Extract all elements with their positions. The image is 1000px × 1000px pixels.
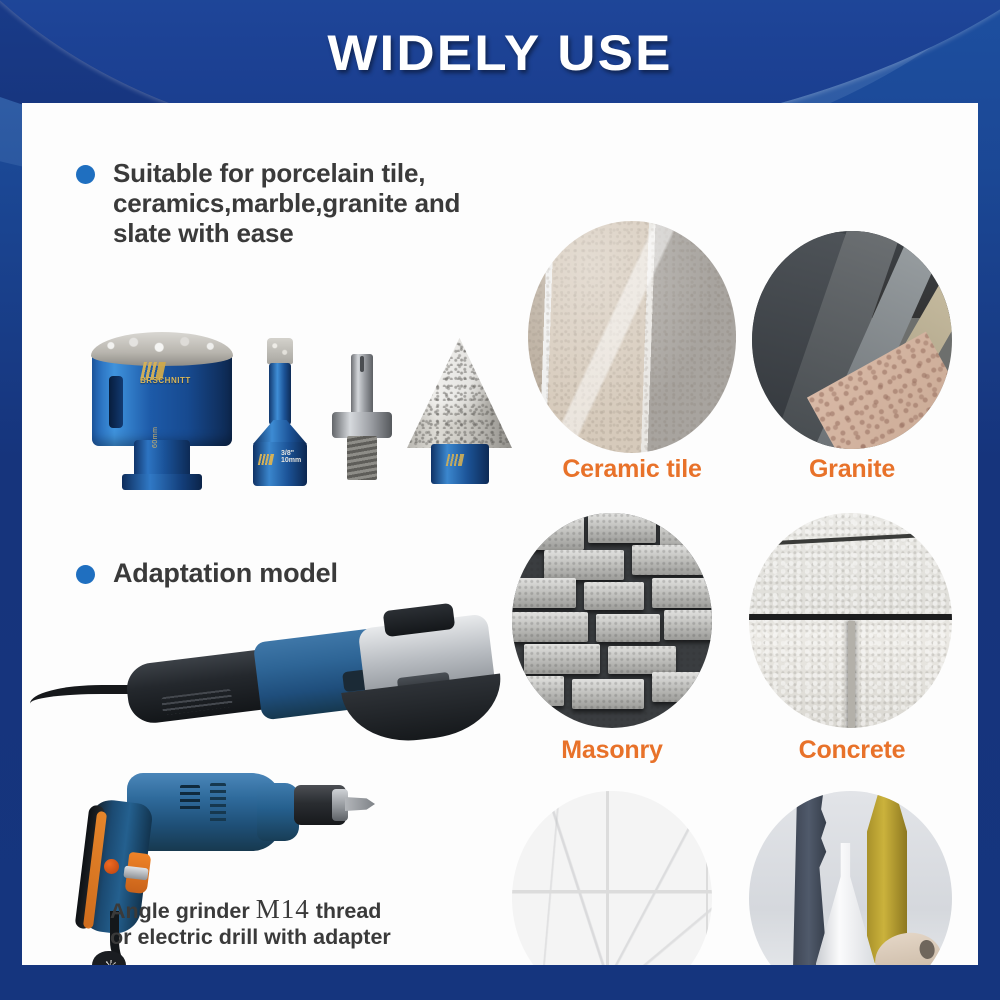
small-bit-size-label: 3/8" 10mm	[281, 450, 301, 465]
porcelain-grout-lines	[512, 791, 712, 965]
blue-dot-icon	[76, 565, 95, 584]
tile-highlight	[528, 221, 736, 453]
hole-saw-slot	[109, 376, 123, 428]
drill-vent-front	[180, 785, 200, 811]
material-photo-masonry	[512, 513, 712, 728]
hex-shank-adapter	[332, 354, 394, 482]
concrete-horizontal-joint	[749, 614, 952, 620]
cone-grit-texture	[407, 338, 512, 448]
small-bit-neck	[269, 363, 291, 425]
masonry-speckle-texture	[512, 513, 712, 728]
drill-vent-rear	[210, 783, 226, 825]
caption-line-2: or electric drill with adapter	[110, 925, 391, 949]
feature-text: Adaptation model	[113, 558, 338, 589]
small-bit-cone	[253, 420, 307, 444]
tool-compatibility-caption: Angle grinder M14 thread or electric dri…	[110, 893, 440, 951]
adapter-thread	[347, 436, 377, 480]
hole-saw-flange	[122, 474, 202, 490]
feature-bullet-adaptation-model: Adaptation model	[76, 558, 338, 589]
material-caption-granite: Granite	[722, 455, 978, 484]
small-diamond-drill-bit: 3/8" 10mm	[247, 338, 313, 488]
hole-saw-diamond-crown	[91, 332, 233, 366]
caption-part-1: Angle grinder	[110, 899, 256, 923]
poster: WIDELY USE Suitable for porcelain tile, …	[0, 0, 1000, 1000]
adapter-stem	[351, 354, 373, 416]
small-bit-size-metric: 10mm	[281, 457, 301, 464]
brand-mark-icon	[258, 454, 274, 465]
material-photo-porcelain-tile	[512, 791, 712, 965]
material-photo-granite	[752, 231, 952, 449]
material-photo-ceramic-tile	[528, 221, 736, 453]
brand-mark-icon	[446, 454, 465, 466]
diamond-hole-saw: BRSCHNITT 60mm	[92, 328, 232, 488]
hole-saw-size-label: 60mm	[152, 427, 159, 448]
material-caption-concrete: Concrete	[722, 736, 978, 765]
material-photo-ceramic	[749, 791, 952, 965]
brand-label: BRSCHNITT	[140, 376, 191, 385]
material-photo-concrete	[749, 513, 952, 728]
small-bit-diamond-tip	[267, 338, 293, 364]
drill-bits-product-photo: BRSCHNITT 60mm 3/8" 10mm	[62, 318, 482, 508]
material-caption-masonry: Masonry	[467, 736, 757, 765]
small-bit-size-imperial: 3/8"	[281, 450, 294, 457]
feature-bullet-suitable-materials: Suitable for porcelain tile, ceramics,ma…	[76, 158, 476, 248]
ceramic-vase-white	[816, 843, 875, 965]
blue-dot-icon	[76, 165, 95, 184]
page-title: WIDELY USE	[0, 24, 1000, 82]
caption-m14-thread: M14	[256, 894, 310, 924]
angle-grinder-photo	[32, 613, 372, 753]
content-panel: Suitable for porcelain tile, ceramics,ma…	[22, 103, 978, 965]
caption-part-2: thread	[310, 899, 382, 923]
feature-text: Suitable for porcelain tile, ceramics,ma…	[113, 158, 476, 248]
adapter-collar	[332, 412, 392, 438]
drill-bit-tip	[345, 797, 375, 811]
concrete-vertical-joint	[848, 621, 855, 729]
drill-nose	[257, 783, 299, 841]
drill-lock-button	[104, 859, 119, 874]
